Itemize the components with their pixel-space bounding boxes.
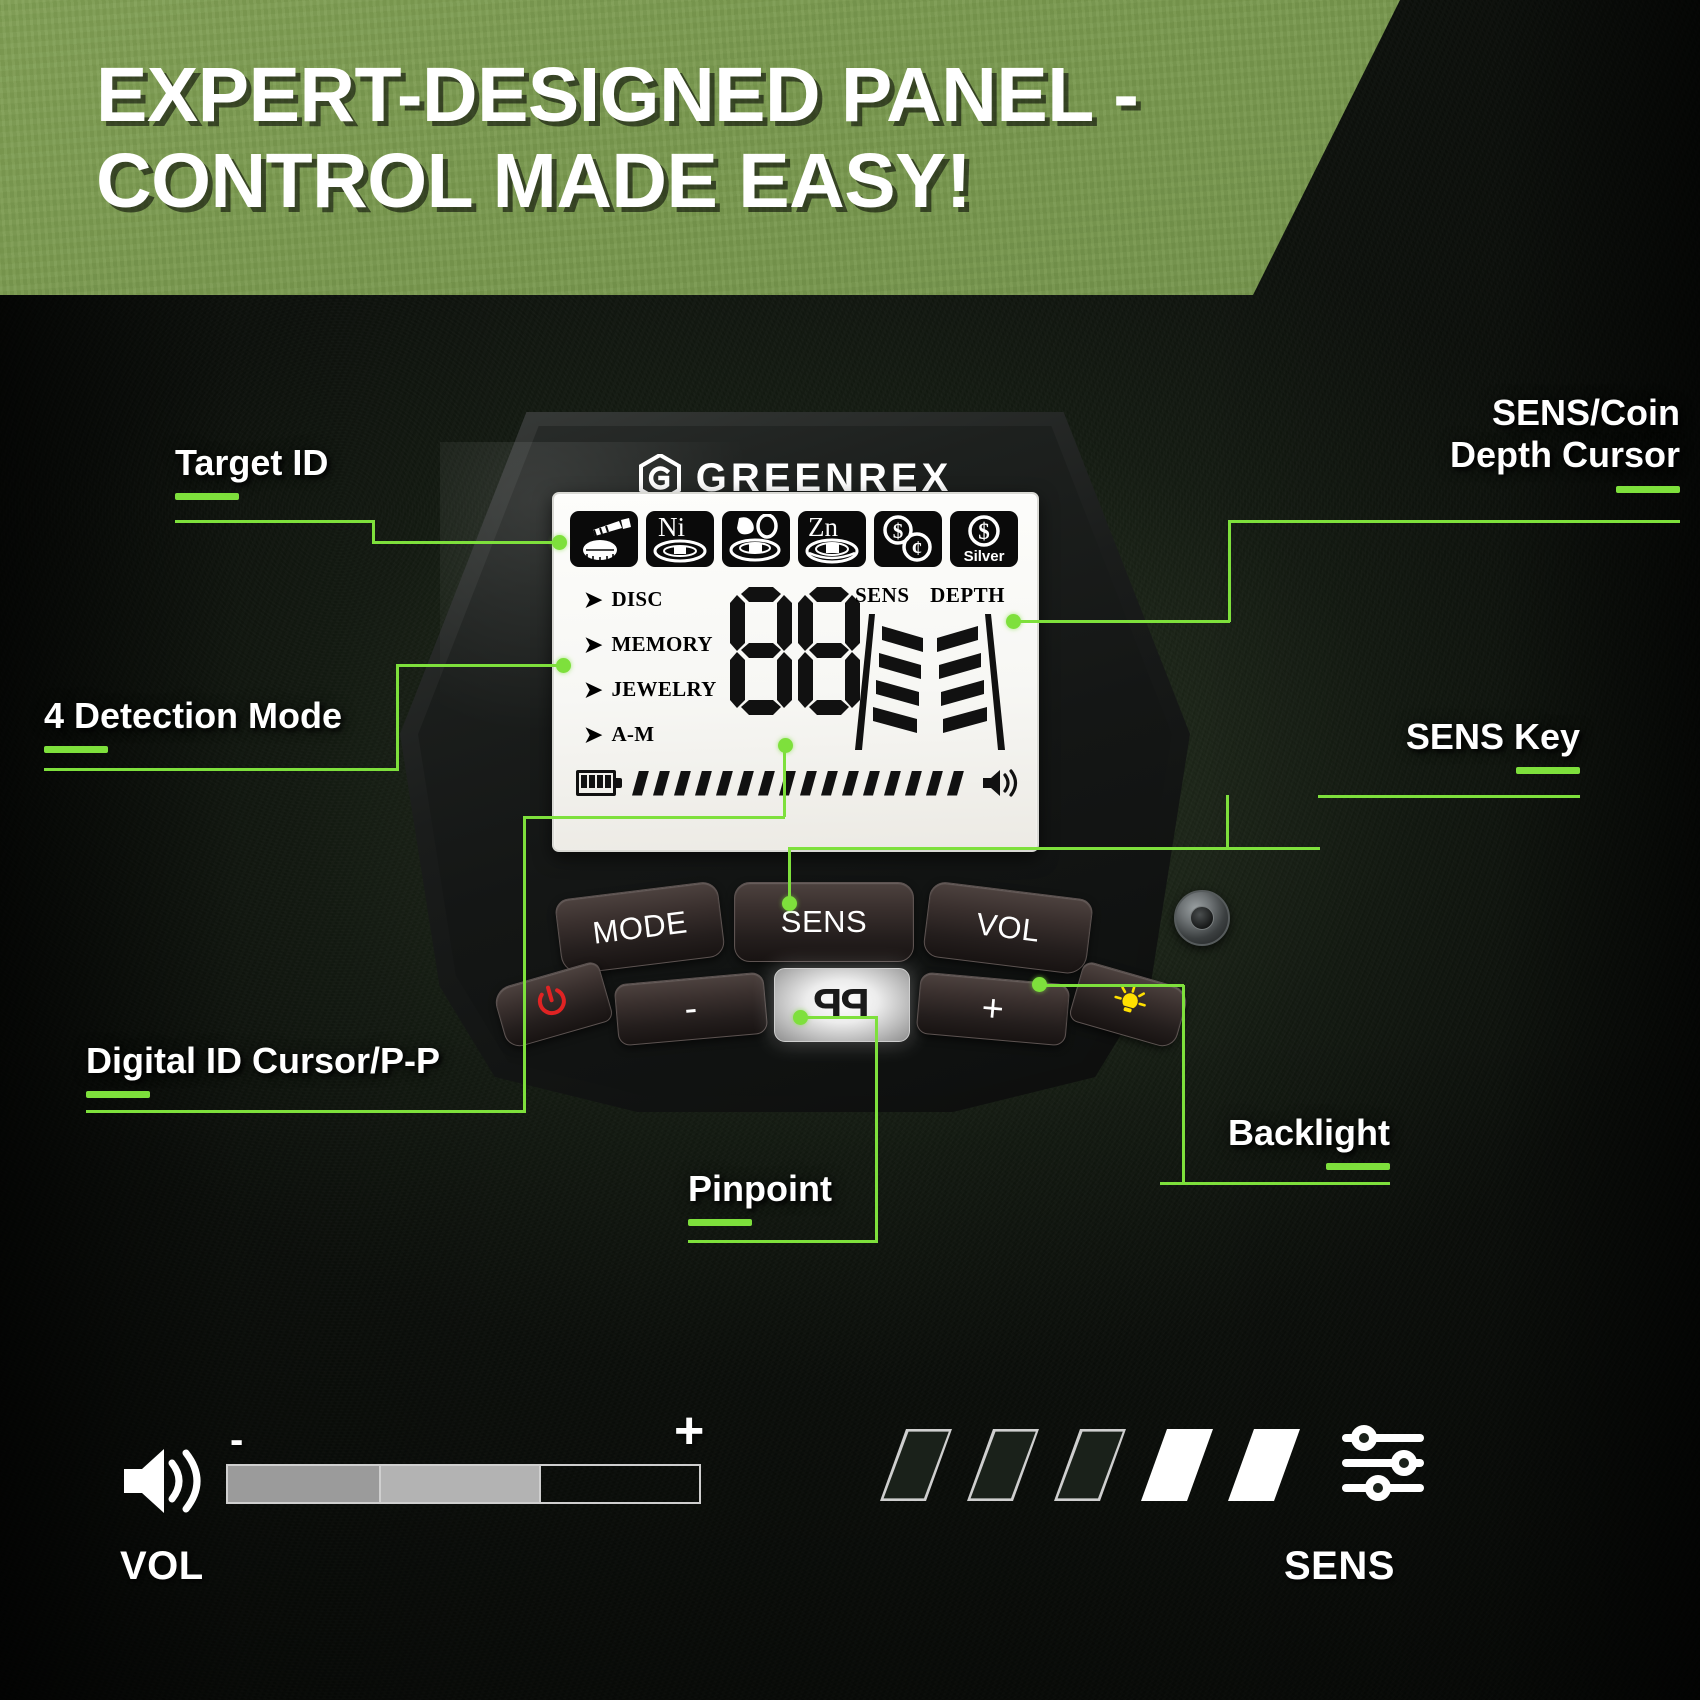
leader-dot-backlight bbox=[1032, 977, 1047, 992]
callout-pinpoint: Pinpoint bbox=[688, 1168, 948, 1226]
sensitivity-segment-off bbox=[880, 1429, 952, 1501]
target-id-iron bbox=[570, 511, 638, 567]
target-id-zinc: Zn bbox=[798, 511, 866, 567]
signal-bargraph bbox=[632, 770, 971, 796]
sensitivity-segment-on bbox=[1228, 1429, 1300, 1501]
volume-segment-on bbox=[381, 1464, 541, 1504]
legend-sensitivity-caption: SENS bbox=[1284, 1544, 1580, 1589]
target-id-silver-label: Silver bbox=[950, 548, 1018, 565]
lcd-middle-section: ➤ DISC ➤ MEMORY ➤ JEWELRY ➤ A-M bbox=[570, 583, 1021, 763]
target-id-coins: $ ¢ bbox=[874, 511, 942, 567]
callout-pinpoint-label: Pinpoint bbox=[688, 1168, 948, 1210]
speaker-waves-icon bbox=[981, 767, 1021, 799]
gauge-label-sens: SENS bbox=[855, 583, 910, 608]
callout-backlight-label: Backlight bbox=[1100, 1112, 1390, 1154]
headline-text: EXPERT-DESIGNED PANEL - CONTROL MADE EAS… bbox=[96, 52, 1276, 224]
detection-mode-list: ➤ DISC ➤ MEMORY ➤ JEWELRY ➤ A-M bbox=[570, 583, 710, 763]
plus-button[interactable]: + bbox=[916, 972, 1071, 1047]
callout-target-id: Target ID bbox=[175, 442, 435, 500]
callout-underline bbox=[1326, 1163, 1390, 1170]
svg-text:$: $ bbox=[893, 519, 904, 543]
pinpoint-button-label: PP bbox=[815, 980, 870, 1030]
leader-dot-digital-id-cursor bbox=[778, 738, 793, 753]
chevron-right-icon: ➤ bbox=[584, 634, 602, 656]
speaker-waves-icon bbox=[120, 1444, 208, 1523]
callout-detection-mode-label: 4 Detection Mode bbox=[44, 695, 394, 737]
mode-label: DISC bbox=[611, 587, 662, 612]
callout-backlight: Backlight bbox=[1100, 1112, 1390, 1170]
leader-dot-pinpoint bbox=[793, 1010, 808, 1025]
mode-item-disc: ➤ DISC bbox=[584, 587, 710, 612]
callout-underline bbox=[1516, 767, 1580, 774]
mode-button-label: MODE bbox=[591, 904, 690, 951]
callout-sens-key: SENS Key bbox=[1180, 716, 1580, 774]
sens-depth-gauges: SENS DEPTH bbox=[845, 583, 1015, 752]
sensitivity-segment-on bbox=[1141, 1429, 1213, 1501]
infographic-canvas: EXPERT-DESIGNED PANEL - CONTROL MADE EAS… bbox=[0, 0, 1700, 1700]
sens-chevron-gauge bbox=[849, 612, 927, 752]
leader-dot-detection-mode bbox=[556, 658, 571, 673]
mode-label: A-M bbox=[611, 722, 654, 747]
chevron-right-icon: ➤ bbox=[584, 589, 602, 611]
headphone-jack-icon[interactable] bbox=[1174, 890, 1230, 946]
volume-segment-off bbox=[541, 1464, 701, 1504]
coin-ring-icon bbox=[804, 536, 860, 564]
dollar-icon: $ bbox=[967, 514, 1001, 548]
pinpoint-button[interactable]: PP bbox=[774, 968, 910, 1042]
chevron-right-icon: ➤ bbox=[584, 724, 602, 746]
mode-label: MEMORY bbox=[611, 632, 712, 657]
callout-underline bbox=[86, 1091, 150, 1098]
detector-control-housing: GREENREX bbox=[400, 412, 1190, 1112]
vol-button[interactable]: VOL bbox=[922, 880, 1094, 975]
mode-item-jewelry: ➤ JEWELRY bbox=[584, 677, 710, 702]
sens-button[interactable]: SENS bbox=[734, 882, 914, 962]
target-id-pulltab bbox=[722, 511, 790, 567]
svg-text:¢: ¢ bbox=[912, 536, 923, 560]
bulb-icon bbox=[1107, 980, 1151, 1030]
battery-icon bbox=[576, 770, 622, 796]
gauge-chevron-pair bbox=[845, 612, 1015, 752]
gauge-labels: SENS DEPTH bbox=[845, 583, 1015, 608]
seven-segment-digit bbox=[730, 587, 792, 715]
mode-item-am: ➤ A-M bbox=[584, 722, 710, 747]
callout-digital-id-cursor-label: Digital ID Cursor/P-P bbox=[86, 1040, 526, 1082]
callout-sens-coin-depth: SENS/Coin Depth Cursor bbox=[1180, 392, 1680, 493]
volume-level-bar[interactable] bbox=[226, 1464, 701, 1504]
chevron-right-icon: ➤ bbox=[584, 679, 602, 701]
sensitivity-level-bar[interactable] bbox=[880, 1429, 1300, 1501]
callout-underline bbox=[44, 746, 108, 753]
vol-button-label: VOL bbox=[974, 906, 1041, 949]
volume-minus-label: - bbox=[230, 1428, 243, 1452]
sensitivity-segment-off bbox=[1054, 1429, 1126, 1501]
minus-button[interactable]: - bbox=[614, 972, 769, 1047]
target-id-row: Ni bbox=[570, 511, 1021, 567]
volume-plus-label: + bbox=[674, 1416, 704, 1447]
gauge-label-depth: DEPTH bbox=[930, 583, 1005, 608]
callout-underline bbox=[688, 1219, 752, 1226]
keypad: MODE SENS VOL - PP bbox=[512, 882, 1102, 1032]
svg-text:$: $ bbox=[978, 519, 990, 544]
mode-button[interactable]: MODE bbox=[554, 880, 726, 975]
depth-chevron-gauge bbox=[933, 612, 1011, 752]
ring-icon bbox=[652, 537, 708, 563]
lcd-screen: Ni bbox=[552, 492, 1039, 852]
callout-sens-coin-depth-label: SENS/Coin Depth Cursor bbox=[1180, 392, 1680, 477]
callout-digital-id-cursor: Digital ID Cursor/P-P bbox=[86, 1040, 526, 1098]
power-icon bbox=[531, 980, 575, 1030]
sensitivity-segment-off bbox=[967, 1429, 1039, 1501]
mode-label: JEWELRY bbox=[611, 677, 716, 702]
dollar-cent-icon: $ ¢ bbox=[879, 514, 937, 564]
mode-item-memory: ➤ MEMORY bbox=[584, 632, 710, 657]
lcd-status-row bbox=[570, 767, 1021, 799]
target-id-silver: $ Silver bbox=[950, 511, 1018, 567]
leader-dot-sens-coin-depth bbox=[1006, 614, 1021, 629]
target-id-nickel: Ni bbox=[646, 511, 714, 567]
callout-underline bbox=[175, 493, 239, 500]
legend-sensitivity: SENS bbox=[880, 1400, 1580, 1589]
callout-target-id-label: Target ID bbox=[175, 442, 435, 484]
callout-underline bbox=[1616, 486, 1680, 493]
callout-sens-key-label: SENS Key bbox=[1180, 716, 1580, 758]
legend-volume: - + VOL bbox=[120, 1400, 820, 1589]
header-banner: EXPERT-DESIGNED PANEL - CONTROL MADE EAS… bbox=[0, 0, 1400, 295]
leader-dot-sens-key bbox=[782, 896, 797, 911]
nail-bottlecap-icon bbox=[573, 514, 635, 564]
target-id-numeric-readout bbox=[730, 587, 860, 715]
callout-detection-mode: 4 Detection Mode bbox=[44, 695, 394, 753]
leader-dot-target-id bbox=[552, 535, 567, 550]
minus-button-label: - bbox=[683, 987, 700, 1031]
sliders-icon bbox=[1342, 1421, 1426, 1510]
volume-segment-on bbox=[226, 1464, 381, 1504]
pulltab-ring-icon bbox=[725, 514, 787, 564]
plus-button-label: + bbox=[980, 987, 1006, 1032]
legend-volume-caption: VOL bbox=[120, 1544, 820, 1589]
